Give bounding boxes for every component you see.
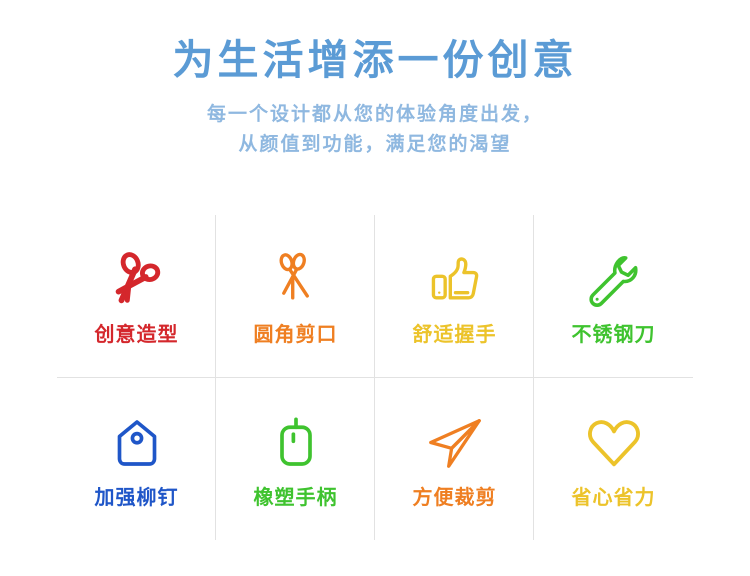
paper-plane-icon-svg (424, 412, 486, 474)
page-subtitle: 每一个设计都从您的体验角度出发， 从颜值到功能，满足您的渴望 (0, 100, 750, 160)
feature-cell-easy-cutting[interactable]: 方便裁剪 (375, 378, 534, 541)
tag-rivet-icon (101, 407, 173, 479)
feature-label: 加强柳钉 (95, 485, 179, 511)
feature-cell-comfort-grip[interactable]: 舒适握手 (375, 215, 534, 378)
feature-cell-creative-shape[interactable]: 创意造型 (57, 215, 216, 378)
feature-cell-stainless-blade[interactable]: 不锈钢刀 (534, 215, 693, 378)
scissors-icon (101, 244, 173, 316)
header: 为生活增添一份创意 每一个设计都从您的体验角度出发， 从颜值到功能，满足您的渴望 (0, 34, 750, 160)
feature-label: 橡塑手柄 (254, 485, 338, 511)
feature-label: 方便裁剪 (413, 485, 497, 511)
subtitle-line-2: 从颜值到功能，满足您的渴望 (0, 130, 750, 160)
tag-rivet-icon-svg (109, 415, 165, 471)
feature-label: 舒适握手 (413, 322, 497, 348)
grip-handle-icon-svg (268, 415, 324, 471)
scissors-icon-svg (106, 249, 168, 311)
heart-icon (578, 407, 650, 479)
thumbs-up-icon-svg (425, 250, 485, 310)
feature-infographic-page: 为生活增添一份创意 每一个设计都从您的体验角度出发， 从颜值到功能，满足您的渴望 (0, 0, 750, 576)
wrench-icon (578, 244, 650, 316)
heart-icon-svg (583, 412, 645, 474)
page-title: 为生活增添一份创意 (0, 34, 750, 86)
paper-plane-icon (419, 407, 491, 479)
feature-cell-round-cut[interactable]: 圆角剪口 (216, 215, 375, 378)
feature-label: 圆角剪口 (254, 322, 338, 348)
feature-label: 不锈钢刀 (572, 322, 656, 348)
subtitle-line-1: 每一个设计都从您的体验角度出发， (0, 100, 750, 130)
feature-cell-effortless[interactable]: 省心省力 (534, 378, 693, 541)
scissors-icon (260, 244, 332, 316)
thumbs-up-icon (419, 244, 491, 316)
feature-cell-reinforced-rivet[interactable]: 加强柳钉 (57, 378, 216, 541)
grip-handle-icon (260, 407, 332, 479)
scissors-icon-svg (266, 250, 326, 310)
feature-label: 创意造型 (95, 322, 179, 348)
feature-label: 省心省力 (572, 485, 656, 511)
wrench-icon-svg (584, 250, 644, 310)
feature-cell-rubber-handle[interactable]: 橡塑手柄 (216, 378, 375, 541)
feature-grid: 创意造型 圆角剪口 (57, 215, 693, 540)
